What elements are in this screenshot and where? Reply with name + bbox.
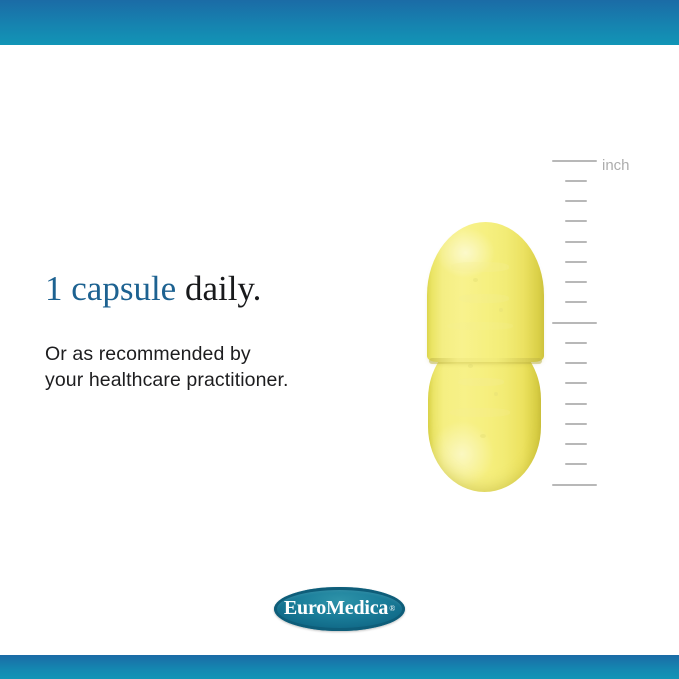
capsule-texture-streak bbox=[447, 322, 513, 330]
capsule-speck bbox=[480, 434, 486, 438]
ruler-minor-tick bbox=[565, 281, 587, 283]
dosage-subtext: Or as recommended by your healthcare pra… bbox=[45, 341, 289, 393]
capsule-texture-streak bbox=[459, 294, 509, 303]
ruler-minor-tick bbox=[565, 362, 587, 364]
dosage-headline-rest: daily. bbox=[176, 269, 261, 308]
capsule-speck bbox=[468, 364, 473, 368]
top-brand-bar bbox=[0, 0, 679, 45]
euromedica-logo: EuroMedica® bbox=[274, 587, 405, 631]
ruler-major-tick bbox=[552, 322, 597, 324]
ruler-unit-label: inch bbox=[602, 158, 630, 173]
capsule-speck bbox=[499, 308, 503, 312]
ruler-major-tick bbox=[552, 160, 597, 162]
inch-ruler: inch bbox=[552, 160, 672, 505]
capsule-texture-streak bbox=[458, 378, 504, 386]
ruler-minor-tick bbox=[565, 301, 587, 303]
bottom-brand-bar bbox=[0, 655, 679, 679]
logo-wordmark: EuroMedica® bbox=[274, 587, 405, 631]
logo-brand-name: EuroMedica bbox=[284, 597, 388, 620]
ruler-minor-tick bbox=[565, 403, 587, 405]
ruler-minor-tick bbox=[565, 220, 587, 222]
ruler-minor-tick bbox=[565, 463, 587, 465]
ruler-minor-tick bbox=[565, 180, 587, 182]
dosage-subtext-line-2: your healthcare practitioner. bbox=[45, 367, 289, 393]
capsule-speck bbox=[494, 392, 498, 396]
ruler-minor-tick bbox=[565, 261, 587, 263]
capsule-texture-streak bbox=[450, 408, 510, 417]
ruler-minor-tick bbox=[565, 241, 587, 243]
registered-trademark-icon: ® bbox=[389, 604, 395, 613]
ruler-minor-tick bbox=[565, 200, 587, 202]
ruler-minor-tick bbox=[565, 443, 587, 445]
capsule-cap bbox=[427, 222, 544, 362]
dosage-headline: 1 capsule daily. bbox=[45, 270, 261, 309]
dosage-subtext-line-1: Or as recommended by bbox=[45, 341, 289, 367]
capsule-image bbox=[427, 222, 544, 494]
capsule-texture-streak bbox=[451, 262, 509, 272]
capsule-speck bbox=[473, 278, 478, 282]
capsule-seam bbox=[429, 358, 542, 364]
ruler-minor-tick bbox=[565, 342, 587, 344]
ruler-minor-tick bbox=[565, 423, 587, 425]
ruler-major-tick bbox=[552, 484, 597, 486]
dosage-headline-accent: 1 capsule bbox=[45, 269, 176, 308]
product-info-panel: 1 capsule daily. Or as recommended by yo… bbox=[0, 0, 679, 679]
ruler-minor-tick bbox=[565, 382, 587, 384]
